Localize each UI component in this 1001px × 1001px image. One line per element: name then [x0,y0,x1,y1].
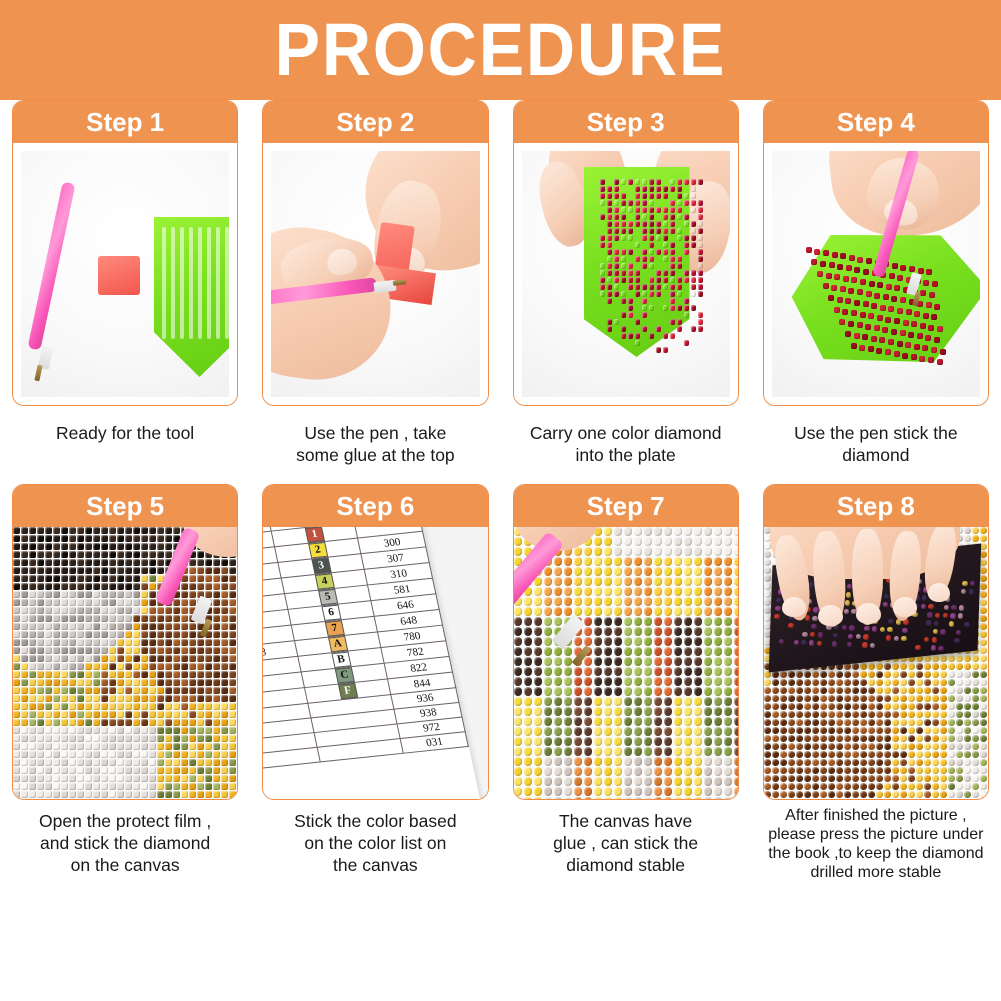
pick-diamond-photo [772,151,980,397]
page-title: PROCEDURE [275,13,727,87]
glue-square [98,256,140,295]
step-card-8[interactable]: Step 8 [763,484,989,800]
step-caption-6: Stick the color based on the color list … [250,800,500,876]
color-chart-photo: SerialSymbolDMC1122300333074431055581666… [263,527,487,799]
step-caption-1: Ready for the tool [0,412,250,444]
step-cell-3: Step 3 Carry one colo [501,100,751,466]
step-body-6: SerialSymbolDMC1122300333074431055581666… [263,527,487,799]
step-header-label-4: Step 4 [837,109,915,135]
step-header-2: Step 2 [263,101,487,143]
step-header-3: Step 3 [514,101,738,143]
step-caption-4: Use the pen stick the diamond [751,412,1001,466]
step-body-3 [514,143,738,405]
step-body-8 [764,527,988,799]
step-header-label-2: Step 2 [336,109,414,135]
step-caption-7: The canvas have glue , can stick the dia… [501,800,751,876]
step-card-1[interactable]: Step 1 [12,100,238,406]
step-header-6: Step 6 [263,485,487,527]
step-header-1: Step 1 [13,101,237,143]
step-header-8: Step 8 [764,485,988,527]
step-header-label-3: Step 3 [587,109,665,135]
step-caption-8: After finished the picture , please pres… [751,800,1001,882]
step-cell-4: Step 4 [751,100,1001,466]
step-card-5[interactable]: Step 5 [12,484,238,800]
step-card-6[interactable]: Step 6 SerialSymbolDMC112230033307443105… [262,484,488,800]
canvas-mosaic-photo [13,527,237,799]
step-card-2[interactable]: Step 2 [262,100,488,406]
step-header-5: Step 5 [13,485,237,527]
step-cell-1: Step 1 [0,100,250,466]
step-header-label-8: Step 8 [837,493,915,519]
page-banner: PROCEDURE [0,0,1001,100]
step-cell-8: Step 8 [751,484,1001,882]
step-header-4: Step 4 [764,101,988,143]
step-card-3[interactable]: Step 3 [513,100,739,406]
press-book-photo [764,527,988,799]
tools-photo [21,151,229,397]
step-header-label-7: Step 7 [587,493,665,519]
step-header-label-5: Step 5 [86,493,164,519]
steps-grid: Step 1 [0,100,1001,882]
step-cell-2: Step 2 [250,100,500,466]
color-chart-table: SerialSymbolDMC1122300333074431055581666… [263,527,469,769]
step-body-1 [13,143,237,405]
step-caption-2: Use the pen , take some glue at the top [250,412,500,466]
step-cell-5: Step 5 Open the protect film , and stick… [0,484,250,882]
steps-row-bottom: Step 5 Open the protect film , and stick… [0,484,1001,882]
step-cell-7: Step 7 The canvas have glue , can stick … [501,484,751,882]
step-header-label-6: Step 6 [336,493,414,519]
step-header-label-1: Step 1 [86,109,164,135]
step-body-5 [13,527,237,799]
chart-sheet: SerialSymbolDMC1122300333074431055581666… [263,527,487,799]
step-body-7 [514,527,738,799]
glue-canvas-photo [514,527,738,799]
step-body-4 [764,143,988,405]
step-caption-3: Carry one color diamond into the plate [501,412,751,466]
step-caption-5: Open the protect film , and stick the di… [0,800,250,876]
step-card-7[interactable]: Step 7 [513,484,739,800]
step-cell-6: Step 6 SerialSymbolDMC112230033307443105… [250,484,500,882]
steps-row-top: Step 1 [0,100,1001,466]
pen-glue-photo [271,151,479,397]
diamonds-in-tray-photo [522,151,730,397]
step-body-2 [263,143,487,405]
step-card-4[interactable]: Step 4 [763,100,989,406]
color-chart: SerialSymbolDMC1122300333074431055581666… [263,527,487,799]
step-header-7: Step 7 [514,485,738,527]
